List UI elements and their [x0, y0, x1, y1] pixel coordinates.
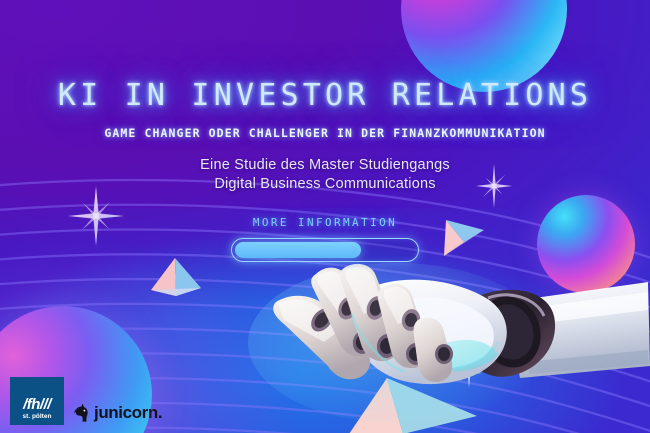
poster-canvas: KI IN INVESTOR RELATIONS GAME CHANGER OD…: [0, 0, 650, 433]
progress-bar-fill: [235, 242, 361, 258]
poster-content: KI IN INVESTOR RELATIONS GAME CHANGER OD…: [0, 0, 650, 433]
study-line-primary: Eine Studie des Master Studiengangs: [0, 157, 650, 173]
page-title: KI IN INVESTOR RELATIONS: [0, 78, 650, 113]
fh-logo-subtitle: st. pölten: [23, 414, 52, 421]
junicorn-wordmark: junicorn.: [94, 404, 162, 421]
junicorn-logo[interactable]: junicorn.: [74, 403, 162, 422]
page-subtitle: GAME CHANGER ODER CHALLENGER IN DER FINA…: [0, 126, 650, 140]
progress-bar[interactable]: [231, 238, 419, 262]
study-line-secondary: Digital Business Communications: [0, 176, 650, 192]
fh-logo-mark: /fh///: [23, 397, 51, 412]
logo-bar: /fh/// st. pölten junicorn.: [10, 377, 162, 425]
fh-st-poelten-logo[interactable]: /fh/// st. pölten: [10, 377, 64, 425]
unicorn-head-icon: [74, 403, 91, 422]
more-information-label[interactable]: MORE INFORMATION: [0, 216, 650, 229]
